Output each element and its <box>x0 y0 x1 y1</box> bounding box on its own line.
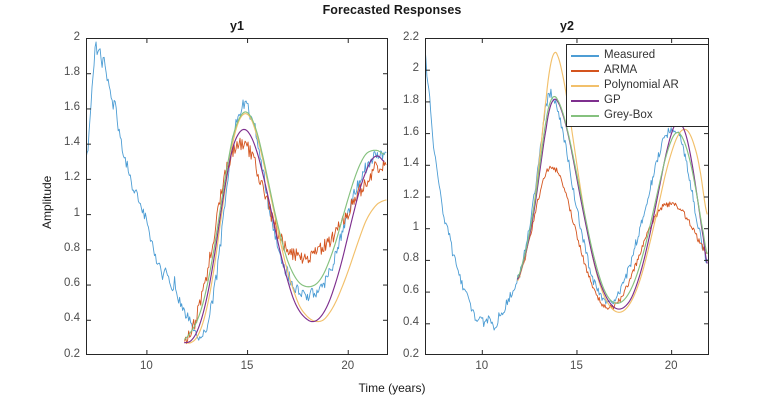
plot-canvas-y1 <box>86 38 388 355</box>
legend-item-gp[interactable]: GP <box>571 93 703 108</box>
legend-swatch-icon <box>571 100 599 102</box>
legend-swatch-icon <box>571 55 599 57</box>
matlab-figure: Forecasted Responses y10.20.40.60.811.21… <box>0 0 784 405</box>
legend[interactable]: MeasuredARMAPolynomial ARGPGrey-Box <box>566 44 709 127</box>
x-tick-label: 20 <box>651 360 691 372</box>
legend-label: Polynomial AR <box>604 78 679 93</box>
y-tick-label: 0.2 <box>367 348 419 360</box>
legend-swatch-icon <box>571 115 599 117</box>
y-tick-label: 1.6 <box>367 126 419 138</box>
y-tick-label: 1 <box>367 221 419 233</box>
y-tick-label: 1.2 <box>367 189 419 201</box>
legend-swatch-icon <box>571 70 599 72</box>
x-tick-label: 10 <box>462 360 502 372</box>
y-tick-label: 0.4 <box>367 316 419 328</box>
y-tick-label: 0.8 <box>28 242 80 254</box>
series-arma <box>518 166 707 309</box>
x-tick-label: 10 <box>126 360 166 372</box>
legend-label: Measured <box>604 48 655 63</box>
y-tick-label: 2 <box>367 62 419 74</box>
series-measured <box>86 42 386 340</box>
x-tick-label: 15 <box>227 360 267 372</box>
y-tick-label: 1.4 <box>367 157 419 169</box>
y-tick-label: 0.2 <box>28 348 80 360</box>
legend-item-polynomial-ar[interactable]: Polynomial AR <box>571 78 703 93</box>
legend-label: ARMA <box>604 63 637 78</box>
y-axis-label: Amplitude <box>40 175 54 228</box>
y-tick-label: 1.2 <box>28 171 80 183</box>
x-axis-label: Time (years) <box>0 381 784 395</box>
y-tick-label: 0.8 <box>367 252 419 264</box>
y-tick-label: 1 <box>28 207 80 219</box>
legend-item-measured[interactable]: Measured <box>571 48 703 63</box>
axes-y1 <box>86 38 388 355</box>
figure-title: Forecasted Responses <box>0 3 784 17</box>
y-tick-label: 1.4 <box>28 136 80 148</box>
y-tick-label: 0.6 <box>367 284 419 296</box>
x-tick-label: 15 <box>556 360 596 372</box>
series-polynomial-ar <box>185 114 386 343</box>
legend-label: GP <box>604 93 621 108</box>
plot-frame-y1 <box>87 39 388 355</box>
series-gp <box>518 99 707 309</box>
subplot-title-y2: y2 <box>425 19 709 33</box>
y-tick-label: 0.4 <box>28 312 80 324</box>
y-tick-label: 2.2 <box>367 31 419 43</box>
y-tick-label: 1.6 <box>28 101 80 113</box>
x-tick-label: 20 <box>328 360 368 372</box>
subplot-title-y1: y1 <box>86 19 388 33</box>
y-tick-label: 0.6 <box>28 277 80 289</box>
legend-swatch-icon <box>571 85 599 87</box>
y-tick-label: 2 <box>28 31 80 43</box>
y-tick-label: 1.8 <box>28 66 80 78</box>
legend-item-grey-box[interactable]: Grey-Box <box>571 108 703 123</box>
y-tick-label: 1.8 <box>367 94 419 106</box>
legend-item-arma[interactable]: ARMA <box>571 63 703 78</box>
legend-label: Grey-Box <box>604 108 653 123</box>
series-grey-box <box>185 112 384 339</box>
